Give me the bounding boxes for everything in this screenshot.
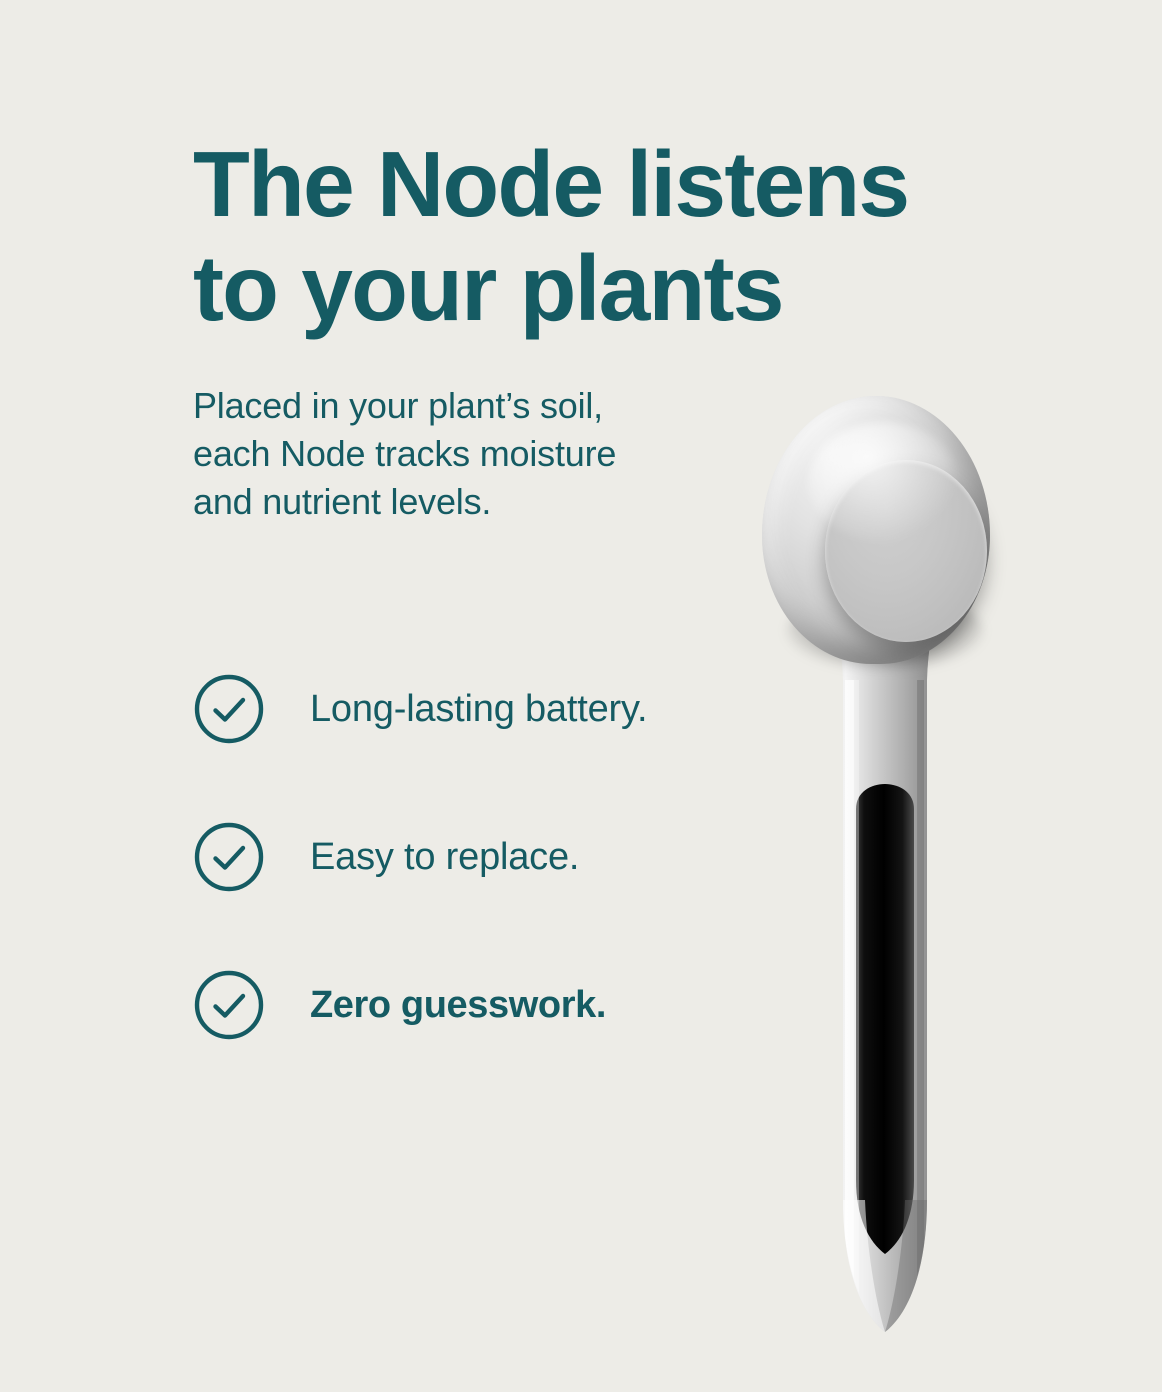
check-circle-icon xyxy=(193,969,265,1041)
sensor-head xyxy=(762,396,990,664)
list-item-label: Easy to replace. xyxy=(310,835,579,879)
list-item: Zero guesswork. xyxy=(193,969,813,1041)
product-image-node-sensor xyxy=(735,380,1035,1360)
check-circle-icon xyxy=(193,673,265,745)
list-item: Easy to replace. xyxy=(193,821,813,893)
sensor-head-highlight xyxy=(808,422,958,542)
feature-list: Long-lasting battery. Easy to replace. xyxy=(193,673,813,1041)
check-circle-icon xyxy=(193,821,265,893)
list-item-label: Long-lasting battery. xyxy=(310,687,647,731)
sensor-body xyxy=(735,380,1035,1360)
list-item: Long-lasting battery. xyxy=(193,673,813,745)
subheading: Placed in your plant’s soil, each Node t… xyxy=(193,382,753,526)
list-item-label: Zero guesswork. xyxy=(310,983,606,1027)
product-feature-poster: The Node listens to your plants Placed i… xyxy=(0,0,1162,1392)
sensor-strip xyxy=(856,784,914,1254)
page-title: The Node listens to your plants xyxy=(193,132,1013,340)
